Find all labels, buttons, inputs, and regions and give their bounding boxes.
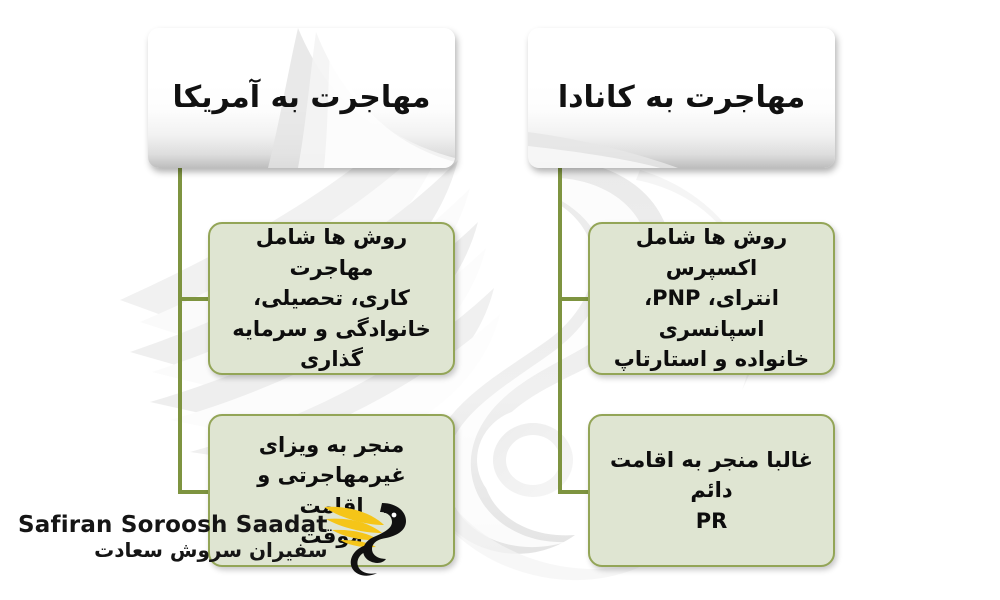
content-label-canada-outcome: غالبا منجر به اقامت دائم PR [590,441,833,540]
content-box-canada-methods[interactable]: روش ها شامل اکسپرس انترای، PNP، اسپانسری… [588,222,835,375]
header-label-usa: مهاجرت به آمریکا [173,80,431,116]
header-box-usa[interactable]: مهاجرت به آمریکا [148,28,455,168]
header-label-canada: مهاجرت به کانادا [558,80,805,116]
content-label-usa-methods: روش ها شامل مهاجرت کاری، تحصیلی، خانوادگ… [210,218,453,378]
logo[interactable]: Safiran Soroosh Saadat سفیران سروش سعادت [18,495,414,579]
logo-name-fa: سفیران سروش سعادت [18,540,328,560]
content-box-usa-methods[interactable]: روش ها شامل مهاجرت کاری، تحصیلی، خانوادگ… [208,222,455,375]
logo-text: Safiran Soroosh Saadat سفیران سروش سعادت [18,514,328,560]
header-box-canada[interactable]: مهاجرت به کانادا [528,28,835,168]
winged-s-bird-icon [322,495,414,579]
logo-name-en: Safiran Soroosh Saadat [18,514,328,537]
infographic-canvas: مهاجرت به آمریکا مهاجرت به کانادا روش ها… [0,0,1000,600]
content-label-canada-methods: روش ها شامل اکسپرس انترای، PNP، اسپانسری… [590,218,833,378]
content-box-canada-outcome[interactable]: غالبا منجر به اقامت دائم PR [588,414,835,567]
